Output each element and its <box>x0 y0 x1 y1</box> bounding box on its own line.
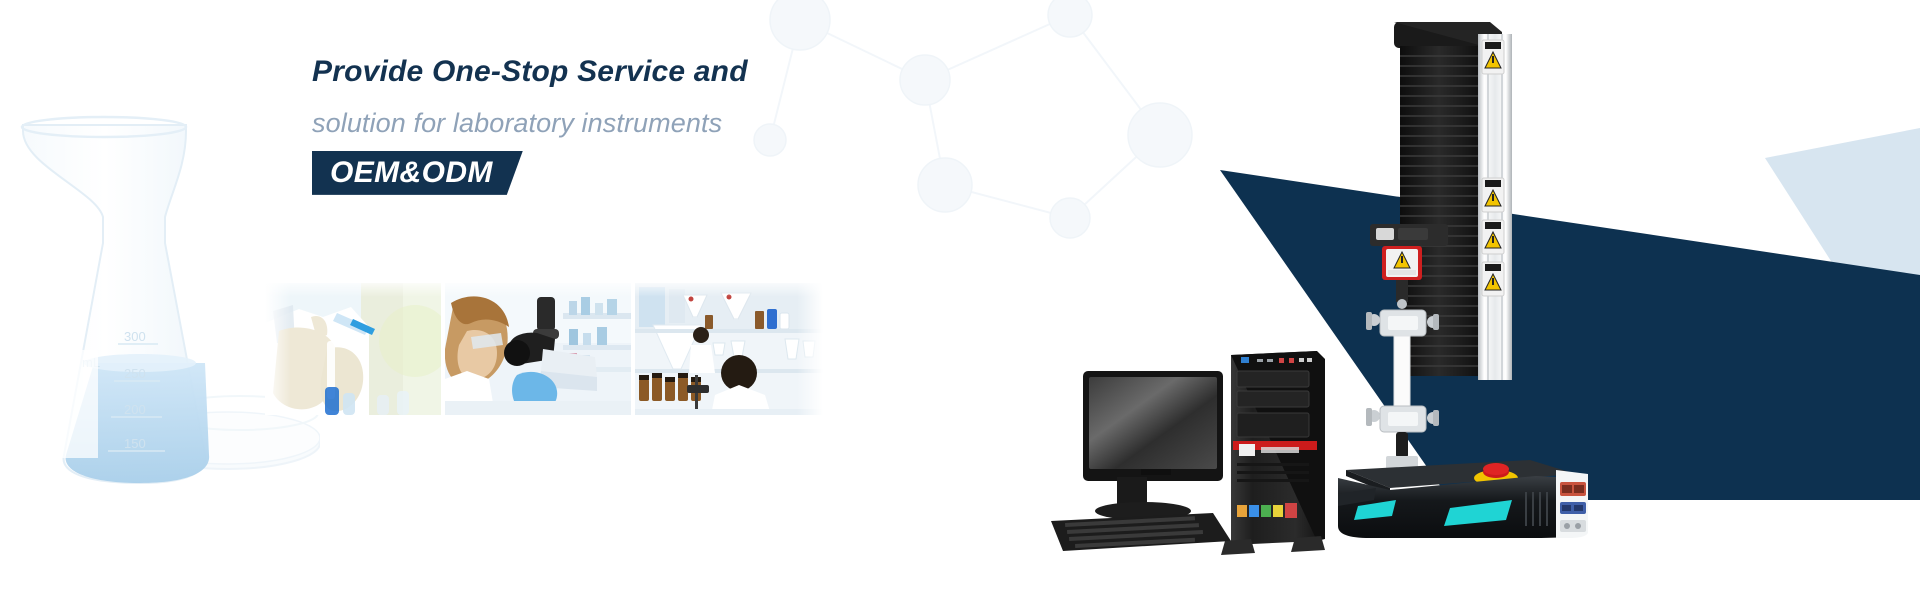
svg-text:300: 300 <box>124 329 146 344</box>
svg-text:150: 150 <box>124 436 146 451</box>
headline-block: Provide One-Stop Service and solution fo… <box>312 56 932 195</box>
keyboard <box>1051 513 1231 551</box>
photo-fade-left <box>265 283 291 415</box>
photo-strip <box>265 283 823 415</box>
flask-graduations: 300 250 200 150 mL <box>82 329 165 451</box>
photo-pipetting-test-tubes <box>265 283 441 415</box>
photo-microscope-examination <box>445 283 631 415</box>
headline-line-1: Provide One-Stop Service and <box>312 56 932 88</box>
crosshead <box>1370 224 1448 246</box>
photo-fade-right <box>797 283 823 415</box>
control-panel <box>1556 470 1588 538</box>
oem-odm-badge: OEM&ODM <box>312 151 523 195</box>
svg-text:250: 250 <box>124 366 146 381</box>
tower-pc <box>1221 351 1325 555</box>
headline-line-2: solution for laboratory instruments <box>312 109 932 137</box>
light-blue-triangle <box>1765 128 1920 400</box>
hero-banner: 300 250 200 150 mL Provide One-Stop Serv… <box>0 0 1920 597</box>
photo-laboratory-bench-work <box>635 283 823 415</box>
photo-fade-top <box>635 283 823 297</box>
universal-testing-machine <box>1330 8 1590 538</box>
load-cell <box>1382 246 1422 280</box>
photo-fade-top <box>265 283 441 297</box>
photo-fade-top <box>445 283 631 297</box>
monitor <box>1083 371 1223 520</box>
lower-grip <box>1366 406 1439 472</box>
svg-text:200: 200 <box>124 402 146 417</box>
svg-text:mL: mL <box>82 355 100 370</box>
badge-row: OEM&ODM <box>312 151 932 195</box>
